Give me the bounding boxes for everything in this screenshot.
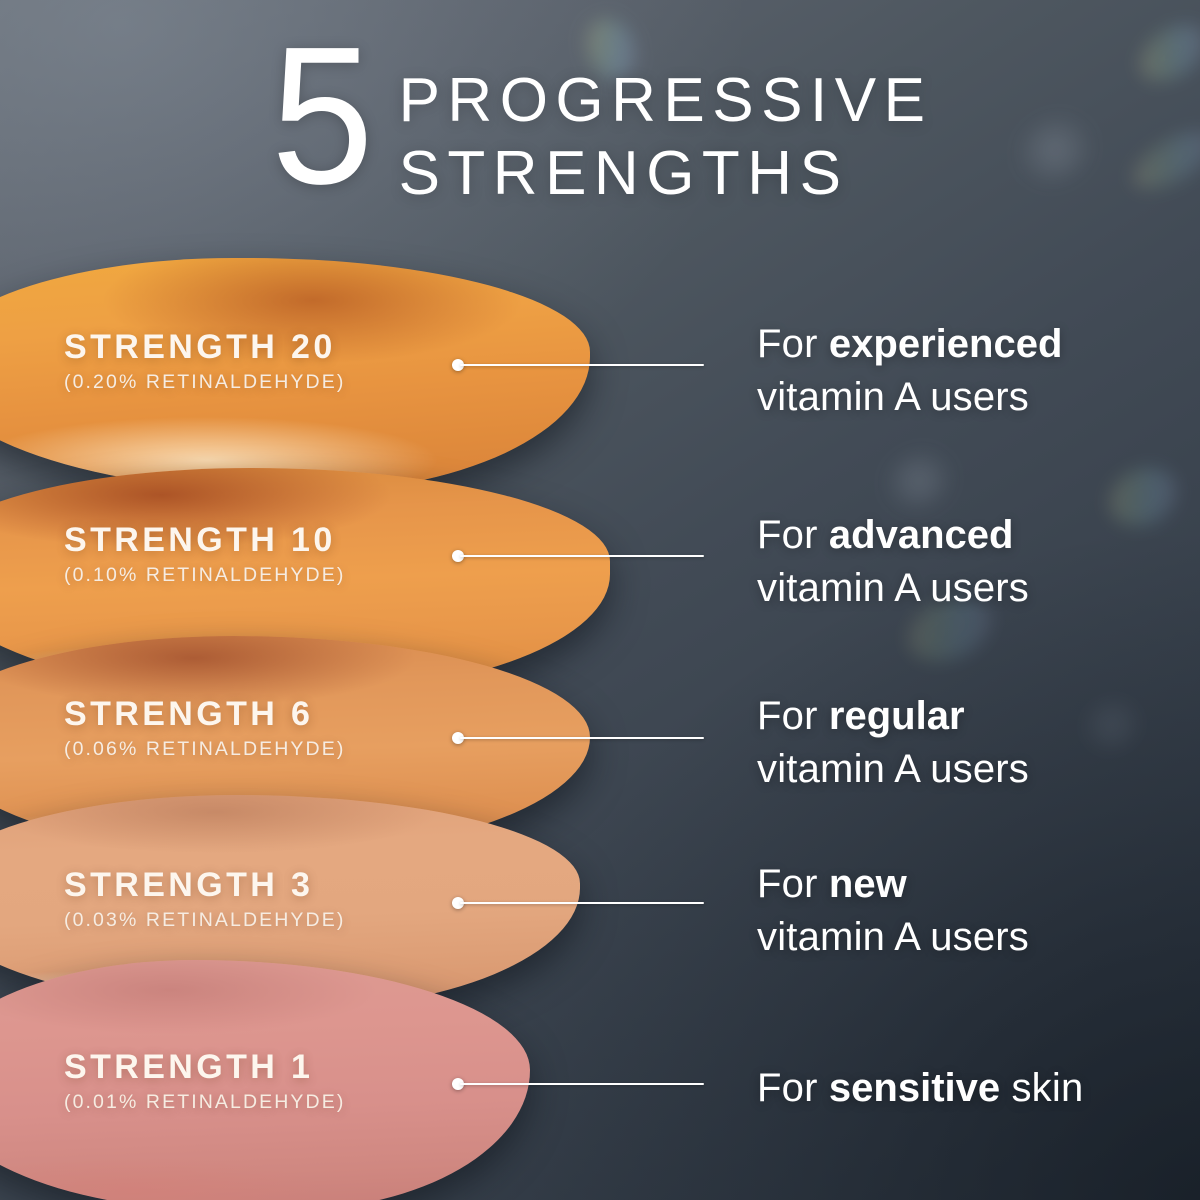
connector-line-strength-20 bbox=[452, 359, 704, 371]
description-strength-3: For new vitamin A users bbox=[757, 858, 1029, 964]
desc-emphasis: experienced bbox=[829, 322, 1062, 366]
page-title: 5 PROGRESSIVE STRENGTHS bbox=[0, 42, 1200, 210]
description-strength-10: For advanced vitamin A users bbox=[757, 509, 1029, 615]
description-strength-1: For sensitive skin bbox=[757, 1062, 1083, 1115]
connector-line-strength-1 bbox=[452, 1078, 704, 1090]
desc-line-2: vitamin A users bbox=[757, 743, 1029, 796]
connector-line-strength-3 bbox=[452, 897, 704, 909]
product-infographic-poster: 5 PROGRESSIVE STRENGTHS STRENGTH 20 (0.2… bbox=[0, 0, 1200, 1200]
desc-line-2: vitamin A users bbox=[757, 562, 1029, 615]
connector-line-strength-6 bbox=[452, 732, 704, 744]
desc-emphasis: regular bbox=[829, 694, 965, 738]
label-strength-1: STRENGTH 1 (0.01% RETINALDEHYDE) bbox=[64, 1050, 345, 1114]
desc-prefix: For bbox=[757, 694, 829, 738]
concentration-label: (0.10% RETINALDEHYDE) bbox=[64, 564, 345, 587]
concentration-label: (0.03% RETINALDEHYDE) bbox=[64, 909, 345, 932]
title-numeral: 5 bbox=[271, 36, 370, 197]
label-strength-3: STRENGTH 3 (0.03% RETINALDEHYDE) bbox=[64, 868, 345, 932]
description-strength-6: For regular vitamin A users bbox=[757, 690, 1029, 796]
connector-rule bbox=[460, 555, 704, 557]
desc-prefix: For bbox=[757, 862, 829, 906]
concentration-label: (0.06% RETINALDEHYDE) bbox=[64, 738, 345, 761]
strength-label: STRENGTH 20 bbox=[64, 330, 345, 366]
strength-label: STRENGTH 10 bbox=[64, 523, 345, 559]
concentration-label: (0.01% RETINALDEHYDE) bbox=[64, 1091, 345, 1114]
desc-emphasis: sensitive bbox=[829, 1066, 1000, 1110]
strength-label: STRENGTH 6 bbox=[64, 697, 345, 733]
connector-rule bbox=[460, 1083, 704, 1085]
desc-emphasis: advanced bbox=[829, 513, 1014, 557]
strength-label: STRENGTH 1 bbox=[64, 1050, 345, 1086]
desc-line-2: vitamin A users bbox=[757, 371, 1062, 424]
desc-prefix: For bbox=[757, 1066, 829, 1110]
title-text: PROGRESSIVE STRENGTHS bbox=[399, 42, 933, 210]
desc-prefix: For bbox=[757, 322, 829, 366]
connector-line-strength-10 bbox=[452, 550, 704, 562]
desc-prefix: For bbox=[757, 513, 829, 557]
concentration-label: (0.20% RETINALDEHYDE) bbox=[64, 371, 345, 394]
label-strength-10: STRENGTH 10 (0.10% RETINALDEHYDE) bbox=[64, 523, 345, 587]
description-strength-20: For experienced vitamin A users bbox=[757, 318, 1062, 424]
label-strength-6: STRENGTH 6 (0.06% RETINALDEHYDE) bbox=[64, 697, 345, 761]
title-line-2: STRENGTHS bbox=[399, 137, 933, 210]
connector-rule bbox=[460, 737, 704, 739]
desc-line-2: vitamin A users bbox=[757, 911, 1029, 964]
connector-rule bbox=[460, 902, 704, 904]
strength-label: STRENGTH 3 bbox=[64, 868, 345, 904]
connector-rule bbox=[460, 364, 704, 366]
desc-emphasis: new bbox=[829, 862, 907, 906]
title-line-1: PROGRESSIVE bbox=[399, 64, 933, 137]
desc-suffix: skin bbox=[1000, 1066, 1083, 1110]
label-strength-20: STRENGTH 20 (0.20% RETINALDEHYDE) bbox=[64, 330, 345, 394]
